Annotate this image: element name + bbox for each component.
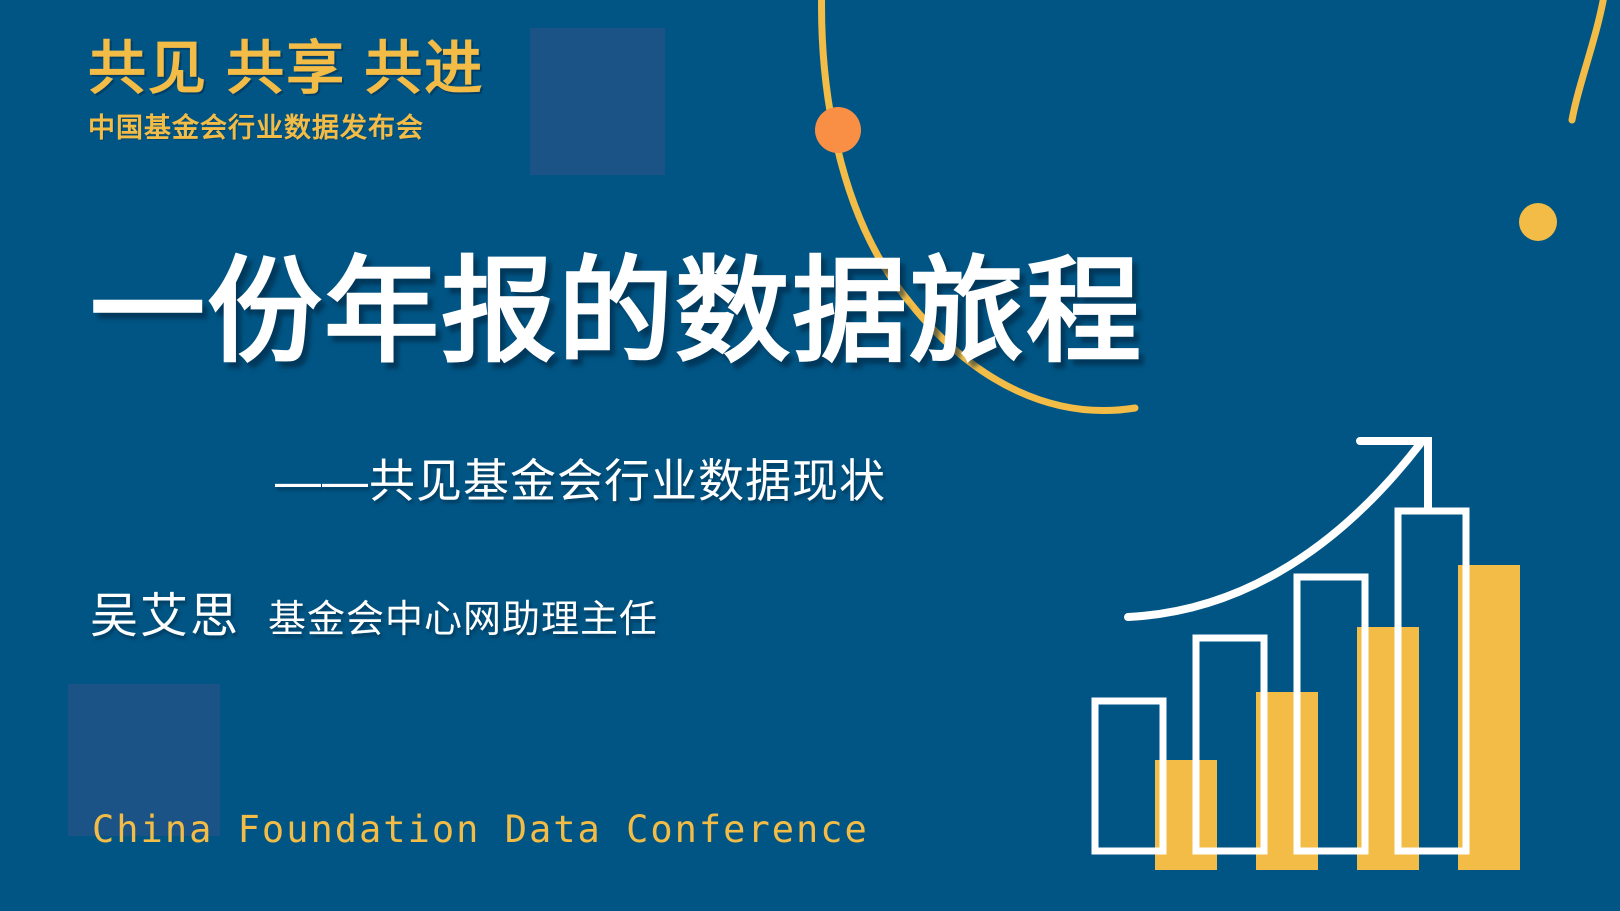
filled-bar-1 <box>1155 760 1217 870</box>
footer-english-title: China Foundation Data Conference <box>92 808 869 851</box>
outline-bar-3 <box>1297 577 1365 851</box>
filled-bar-2 <box>1256 692 1318 870</box>
gold-circle-dot <box>1519 203 1557 241</box>
logo-sub-text: 中国基金会行业数据发布会 <box>88 115 484 142</box>
filled-bar-4 <box>1458 565 1520 870</box>
chart-outline-bars <box>1095 511 1466 851</box>
filled-bar-3 <box>1357 627 1419 870</box>
speaker-role: 基金会中心网助理主任 <box>268 601 658 639</box>
logo-main-text: 共见 共享 共进 <box>88 40 484 98</box>
conference-logo: 共见 共享 共进 中国基金会行业数据发布会 <box>88 40 484 142</box>
speaker-name: 吴艾思 <box>90 593 240 641</box>
gold-arc-line <box>1572 0 1605 120</box>
growth-arrow-icon <box>1128 441 1428 617</box>
page-title: 一份年报的数据旅程 <box>90 255 1143 370</box>
outline-bar-1 <box>1095 701 1163 851</box>
presentation-slide: 共见 共享 共进 中国基金会行业数据发布会 一份年报的数据旅程 ——共见基金会行… <box>0 0 1620 911</box>
chart-filled-bars <box>1155 565 1520 870</box>
outline-bar-2 <box>1196 638 1264 851</box>
orange-circle-dot <box>815 107 861 153</box>
accent-square-top <box>530 28 665 175</box>
speaker-block: 吴艾思 基金会中心网助理主任 <box>90 593 658 641</box>
outline-bar-4 <box>1398 511 1466 851</box>
page-subtitle: ——共见基金会行业数据现状 <box>275 458 886 504</box>
